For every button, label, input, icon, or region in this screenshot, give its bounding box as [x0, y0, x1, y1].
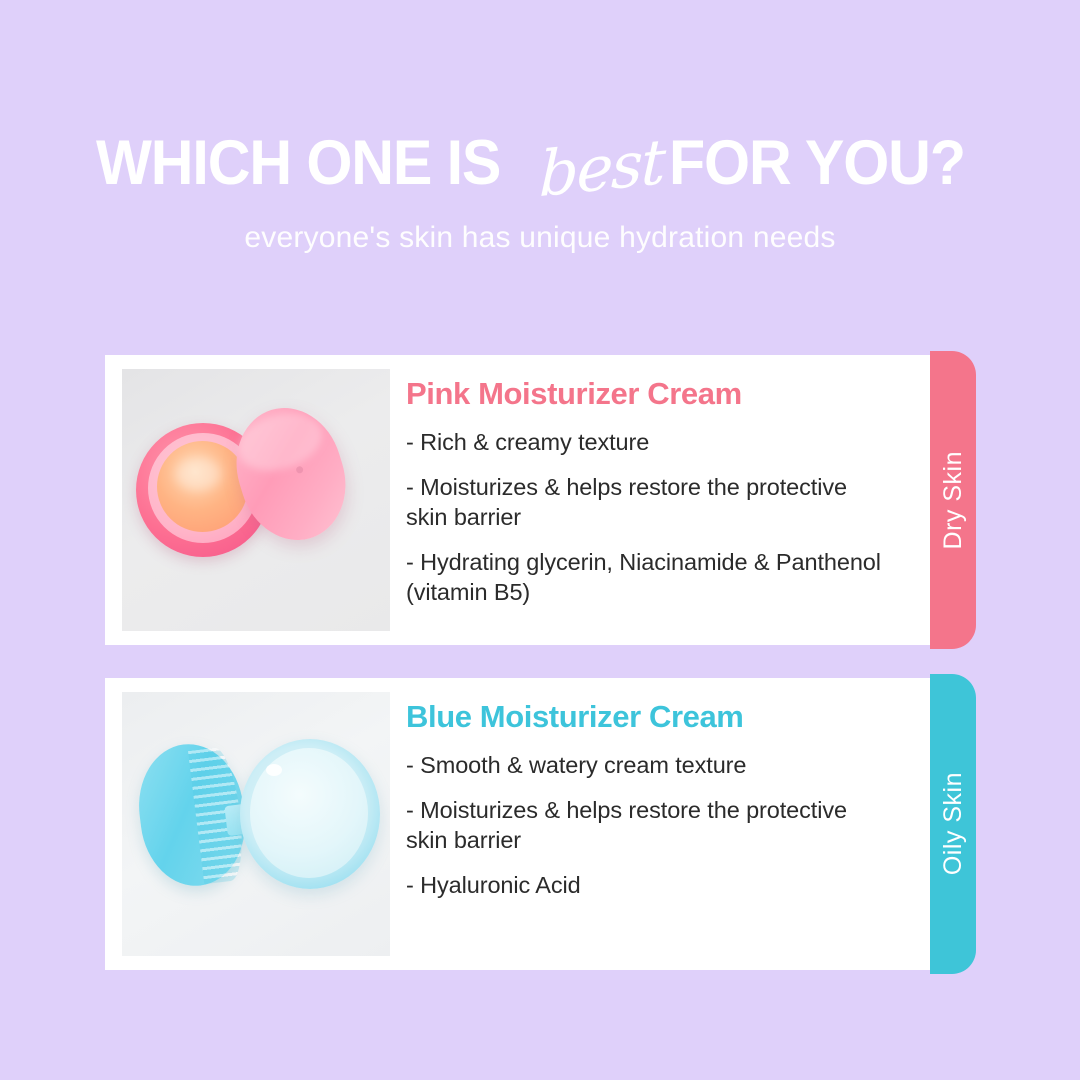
pink-card-title: Pink Moisturizer Cream	[406, 377, 890, 411]
pink-bullet-2: - Moisturizes & helps restore the protec…	[406, 472, 890, 533]
title-part-one: WHICH ONE IS	[96, 132, 500, 195]
pink-jar-photo	[122, 369, 390, 631]
skin-type-tab-dry-label: Dry Skin	[939, 451, 968, 549]
product-card-pink[interactable]: Pink Moisturizer Cream - Rich & creamy t…	[105, 355, 930, 645]
blue-gel-icon	[250, 748, 368, 878]
skin-type-tab-dry[interactable]: Dry Skin	[930, 351, 976, 649]
blue-bullet-1: - Smooth & watery cream texture	[406, 750, 890, 781]
blue-bullet-3: - Hyaluronic Acid	[406, 870, 890, 901]
pink-bullet-3: - Hydrating glycerin, Niacinamide & Pant…	[406, 547, 890, 608]
header: WHICH ONE IS best FOR YOU? everyone's sk…	[0, 0, 1080, 330]
page-title: WHICH ONE IS best FOR YOU?	[96, 132, 984, 195]
title-part-two: FOR YOU?	[669, 132, 965, 195]
page-subtitle: everyone's skin has unique hydration nee…	[244, 221, 835, 255]
pink-cream-icon	[157, 441, 248, 532]
blue-bullet-2: - Moisturizes & helps restore the protec…	[406, 795, 890, 856]
blue-jar-photo	[122, 692, 390, 956]
blue-card-content: Blue Moisturizer Cream - Smooth & watery…	[390, 692, 930, 900]
pink-bullet-1: - Rich & creamy texture	[406, 427, 890, 458]
title-script-word: best	[527, 130, 672, 208]
pink-card-content: Pink Moisturizer Cream - Rich & creamy t…	[390, 369, 930, 608]
skin-type-tab-oily-label: Oily Skin	[939, 772, 968, 875]
product-card-blue[interactable]: Blue Moisturizer Cream - Smooth & watery…	[105, 678, 930, 970]
skin-type-tab-oily[interactable]: Oily Skin	[930, 674, 976, 974]
blue-card-title: Blue Moisturizer Cream	[406, 700, 890, 734]
